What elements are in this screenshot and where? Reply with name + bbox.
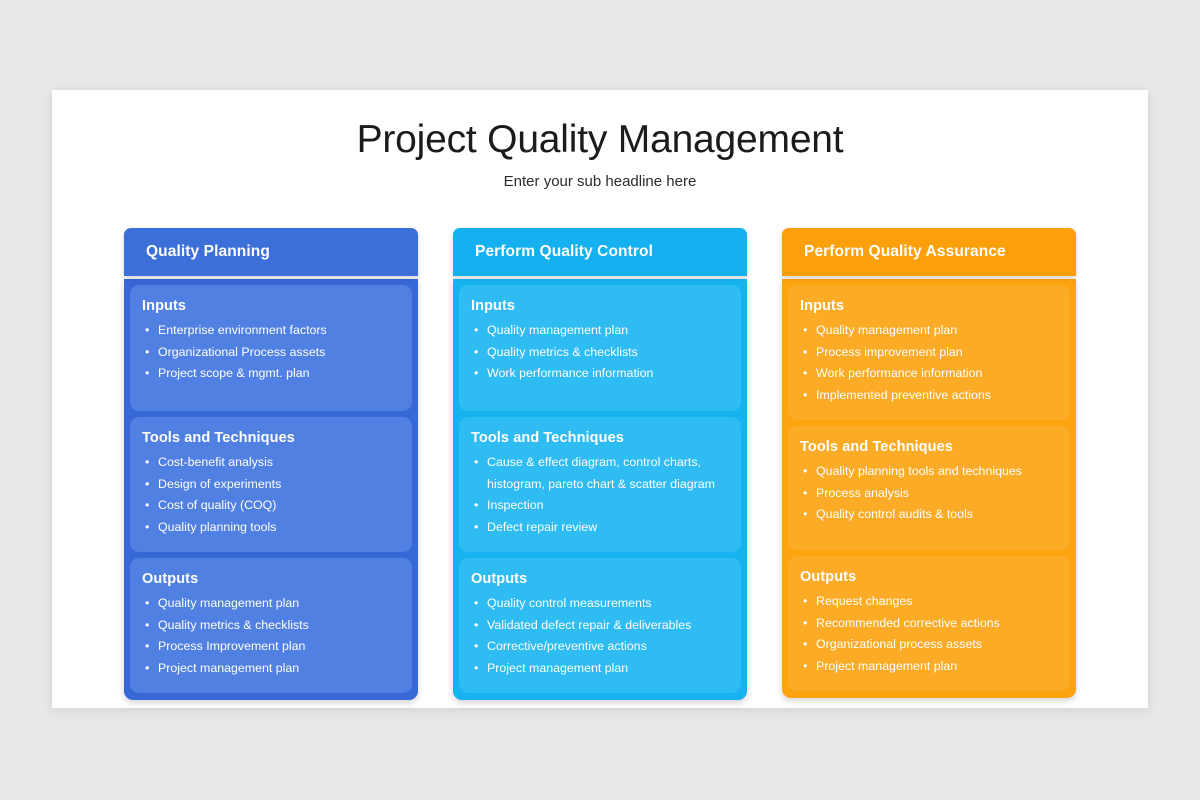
bullet-list: •Quality management plan•Quality metrics… (471, 320, 731, 385)
bullet-dot-icon: • (471, 452, 487, 474)
bullet-dot-icon: • (471, 636, 487, 658)
bullet-dot-icon: • (142, 658, 158, 680)
columns-container: Quality PlanningInputs•Enterprise enviro… (124, 228, 1076, 700)
list-item: •Recommended corrective actions (800, 613, 1060, 635)
list-item: •Work performance information (800, 363, 1060, 385)
bullet-list: •Cost-benefit analysis•Design of experim… (142, 452, 402, 538)
list-item: •Quality management plan (800, 320, 1060, 342)
list-item: •Project management plan (800, 656, 1060, 678)
column-body-perform-quality-assurance: Inputs•Quality management plan•Process i… (782, 279, 1076, 698)
list-item-label: Implemented preventive actions (816, 385, 1060, 407)
bullet-dot-icon: • (142, 320, 158, 342)
section-title: Inputs (800, 298, 1060, 314)
bullet-dot-icon: • (471, 320, 487, 342)
bullet-dot-icon: • (471, 615, 487, 637)
list-item: •Quality control measurements (471, 593, 731, 615)
list-item: •Quality metrics & checklists (142, 615, 402, 637)
bullet-dot-icon: • (142, 363, 158, 385)
list-item-label: Quality planning tools and techniques (816, 461, 1060, 483)
bullet-dot-icon: • (142, 636, 158, 658)
slide-canvas: Project Quality Management Enter your su… (52, 90, 1148, 708)
list-item-label: Process Improvement plan (158, 636, 402, 658)
list-item-label: Cost-benefit analysis (158, 452, 402, 474)
column-quality-planning: Quality PlanningInputs•Enterprise enviro… (124, 228, 418, 700)
list-item: •Project scope & mgmt. plan (142, 363, 402, 385)
list-item: •Defect repair review (471, 517, 731, 539)
column-header-quality-planning[interactable]: Quality Planning (124, 228, 418, 276)
list-item-label: Inspection (487, 495, 731, 517)
section-title: Inputs (142, 298, 402, 314)
bullet-list: •Quality management plan•Process improve… (800, 320, 1060, 406)
list-item-label: Process improvement plan (816, 342, 1060, 364)
list-item: •Enterprise environment factors (142, 320, 402, 342)
column-body-quality-planning: Inputs•Enterprise environment factors•Or… (124, 279, 418, 700)
section-outputs-quality-planning: Outputs•Quality management plan•Quality … (130, 558, 412, 693)
list-item: •Implemented preventive actions (800, 385, 1060, 407)
column-header-perform-quality-control[interactable]: Perform Quality Control (453, 228, 747, 276)
bullet-list: •Quality planning tools and techniques•P… (800, 461, 1060, 526)
list-item-label: Work performance information (487, 363, 731, 385)
list-item: •Organizational process assets (800, 634, 1060, 656)
list-item: •Validated defect repair & deliverables (471, 615, 731, 637)
bullet-list: •Quality management plan•Quality metrics… (142, 593, 402, 679)
page-title: Project Quality Management (52, 118, 1148, 162)
list-item-label: Defect repair review (487, 517, 731, 539)
section-outputs-perform-quality-assurance: Outputs•Request changes•Recommended corr… (788, 556, 1070, 691)
section-title: Inputs (471, 298, 731, 314)
list-item-label: Quality metrics & checklists (158, 615, 402, 637)
list-item: •Quality management plan (471, 320, 731, 342)
bullet-dot-icon: • (800, 656, 816, 678)
list-item-label: Process analysis (816, 483, 1060, 505)
list-item: •Cost of quality (COQ) (142, 495, 402, 517)
section-outputs-perform-quality-control: Outputs•Quality control measurements•Val… (459, 558, 741, 693)
list-item-label: Organizational Process assets (158, 342, 402, 364)
list-item: •Process analysis (800, 483, 1060, 505)
bullet-list: •Request changes•Recommended corrective … (800, 591, 1060, 677)
bullet-dot-icon: • (471, 658, 487, 680)
list-item-label: Project scope & mgmt. plan (158, 363, 402, 385)
bullet-list: •Enterprise environment factors•Organiza… (142, 320, 402, 385)
section-tools-perform-quality-control: Tools and Techniques•Cause & effect diag… (459, 417, 741, 552)
column-header-label: Quality Planning (146, 243, 270, 261)
list-item-label: Quality planning tools (158, 517, 402, 539)
bullet-dot-icon: • (800, 363, 816, 385)
bullet-dot-icon: • (471, 593, 487, 615)
section-tools-perform-quality-assurance: Tools and Techniques•Quality planning to… (788, 426, 1070, 550)
list-item: •Project management plan (142, 658, 402, 680)
bullet-list: •Cause & effect diagram, control charts,… (471, 452, 731, 538)
section-inputs-perform-quality-control: Inputs•Quality management plan•Quality m… (459, 285, 741, 411)
list-item: •Cause & effect diagram, control charts,… (471, 452, 731, 495)
list-item: •Process Improvement plan (142, 636, 402, 658)
section-tools-quality-planning: Tools and Techniques•Cost-benefit analys… (130, 417, 412, 552)
list-item: •Corrective/preventive actions (471, 636, 731, 658)
list-item: •Quality control audits & tools (800, 504, 1060, 526)
section-title: Outputs (142, 571, 402, 587)
bullet-dot-icon: • (800, 461, 816, 483)
list-item-label: Cost of quality (COQ) (158, 495, 402, 517)
list-item-label: Project management plan (158, 658, 402, 680)
bullet-dot-icon: • (471, 342, 487, 364)
list-item-label: Quality control measurements (487, 593, 731, 615)
bullet-dot-icon: • (800, 385, 816, 407)
list-item-label: Request changes (816, 591, 1060, 613)
bullet-dot-icon: • (800, 483, 816, 505)
bullet-dot-icon: • (471, 517, 487, 539)
list-item-label: Enterprise environment factors (158, 320, 402, 342)
list-item: •Cost-benefit analysis (142, 452, 402, 474)
list-item-label: Quality control audits & tools (816, 504, 1060, 526)
list-item-label: Cause & effect diagram, control charts, … (487, 452, 731, 495)
column-header-label: Perform Quality Control (475, 243, 653, 261)
bullet-dot-icon: • (142, 517, 158, 539)
column-header-label: Perform Quality Assurance (804, 243, 1006, 261)
bullet-dot-icon: • (471, 495, 487, 517)
list-item: •Inspection (471, 495, 731, 517)
list-item-label: Organizational process assets (816, 634, 1060, 656)
list-item-label: Work performance information (816, 363, 1060, 385)
column-header-perform-quality-assurance[interactable]: Perform Quality Assurance (782, 228, 1076, 276)
list-item: •Design of experiments (142, 474, 402, 496)
bullet-dot-icon: • (142, 342, 158, 364)
page-subtitle: Enter your sub headline here (52, 173, 1148, 190)
bullet-list: •Quality control measurements•Validated … (471, 593, 731, 679)
list-item: •Project management plan (471, 658, 731, 680)
bullet-dot-icon: • (471, 363, 487, 385)
section-title: Outputs (800, 569, 1060, 585)
bullet-dot-icon: • (142, 495, 158, 517)
list-item: •Quality management plan (142, 593, 402, 615)
list-item-label: Quality metrics & checklists (487, 342, 731, 364)
list-item: •Quality planning tools (142, 517, 402, 539)
section-title: Tools and Techniques (800, 439, 1060, 455)
bullet-dot-icon: • (800, 504, 816, 526)
bullet-dot-icon: • (142, 474, 158, 496)
list-item-label: Design of experiments (158, 474, 402, 496)
list-item-label: Recommended corrective actions (816, 613, 1060, 635)
section-title: Tools and Techniques (142, 430, 402, 446)
list-item: •Organizational Process assets (142, 342, 402, 364)
list-item-label: Quality management plan (816, 320, 1060, 342)
list-item-label: Validated defect repair & deliverables (487, 615, 731, 637)
section-inputs-quality-planning: Inputs•Enterprise environment factors•Or… (130, 285, 412, 411)
bullet-dot-icon: • (800, 320, 816, 342)
bullet-dot-icon: • (800, 591, 816, 613)
bullet-dot-icon: • (142, 452, 158, 474)
bullet-dot-icon: • (142, 615, 158, 637)
column-perform-quality-assurance: Perform Quality AssuranceInputs•Quality … (782, 228, 1076, 700)
bullet-dot-icon: • (142, 593, 158, 615)
list-item-label: Quality management plan (158, 593, 402, 615)
list-item-label: Project management plan (816, 656, 1060, 678)
section-title: Outputs (471, 571, 731, 587)
section-title: Tools and Techniques (471, 430, 731, 446)
bullet-dot-icon: • (800, 342, 816, 364)
list-item-label: Corrective/preventive actions (487, 636, 731, 658)
list-item: •Quality metrics & checklists (471, 342, 731, 364)
list-item-label: Project management plan (487, 658, 731, 680)
section-inputs-perform-quality-assurance: Inputs•Quality management plan•Process i… (788, 285, 1070, 420)
list-item: •Request changes (800, 591, 1060, 613)
column-body-perform-quality-control: Inputs•Quality management plan•Quality m… (453, 279, 747, 700)
list-item: •Quality planning tools and techniques (800, 461, 1060, 483)
list-item: •Work performance information (471, 363, 731, 385)
bullet-dot-icon: • (800, 613, 816, 635)
list-item: •Process improvement plan (800, 342, 1060, 364)
column-perform-quality-control: Perform Quality ControlInputs•Quality ma… (453, 228, 747, 700)
list-item-label: Quality management plan (487, 320, 731, 342)
bullet-dot-icon: • (800, 634, 816, 656)
